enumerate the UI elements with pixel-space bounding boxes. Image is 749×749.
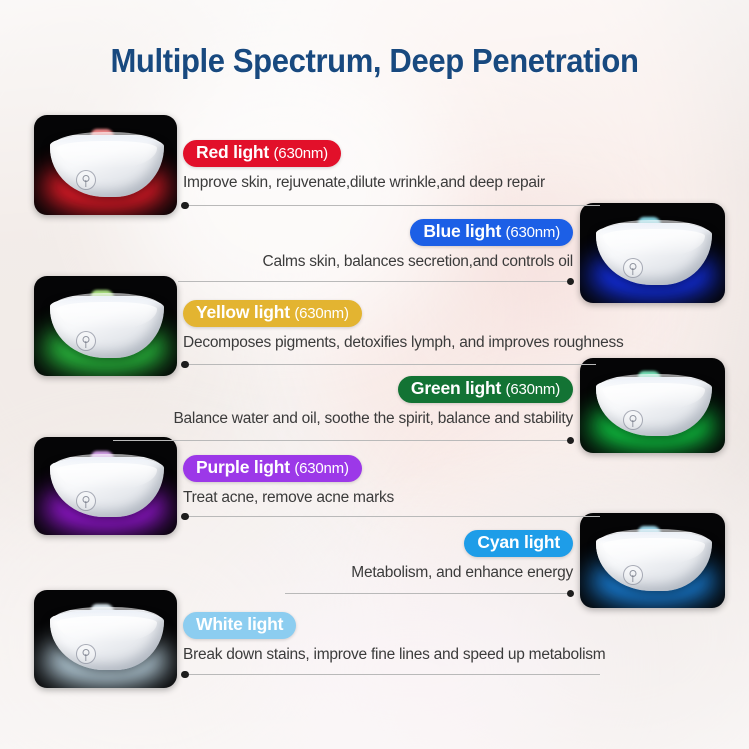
visor-rim: [598, 220, 709, 236]
connector-dot-blue: [567, 278, 575, 286]
product-image-white: [34, 590, 177, 688]
product-image-blue: [580, 203, 725, 303]
power-button-icon: [76, 644, 96, 664]
connector-line-yellow: [182, 364, 596, 365]
visor-rim: [52, 293, 162, 309]
light-description-yellow: Decomposes pigments, detoxifies lymph, a…: [183, 333, 624, 352]
spectrum-row-green: Green light (630nm)Balance water and oil…: [173, 376, 573, 428]
power-button-icon: [76, 170, 96, 190]
power-button-icon: [76, 491, 96, 511]
light-badge-yellow[interactable]: Yellow light (630nm): [183, 300, 362, 327]
connector-line-green: [113, 440, 573, 441]
light-description-white: Break down stains, improve fine lines an…: [183, 645, 605, 664]
connector-line-purple: [182, 516, 600, 517]
connector-line-cyan: [285, 593, 573, 594]
light-wavelength-red: (630nm): [274, 145, 328, 162]
infographic-page: Multiple Spectrum, Deep Penetration Red …: [0, 0, 749, 749]
visor-rim: [598, 529, 709, 544]
product-image-purple: [34, 437, 177, 535]
connector-line-blue: [178, 281, 573, 282]
light-name-green: Green light: [411, 378, 501, 398]
connector-dot-white: [181, 671, 189, 679]
visor-rim: [52, 607, 162, 623]
light-name-white: White light: [196, 614, 283, 634]
light-badge-red[interactable]: Red light (630nm): [183, 140, 341, 167]
product-image-green: [580, 358, 725, 453]
connector-dot-red: [181, 202, 189, 210]
light-wavelength-purple: (630nm): [294, 460, 348, 477]
connector-line-red: [182, 205, 600, 206]
product-image-red: [34, 115, 177, 215]
light-name-cyan: Cyan light: [477, 532, 560, 552]
connector-line-white: [182, 674, 600, 675]
light-name-blue: Blue light: [423, 221, 501, 241]
spectrum-row-blue: Blue light (630nm)Calms skin, balances s…: [263, 219, 573, 271]
connector-dot-yellow: [181, 361, 189, 369]
light-name-purple: Purple light: [196, 457, 290, 477]
light-badge-purple[interactable]: Purple light (630nm): [183, 455, 362, 482]
product-image-cyan: [580, 513, 725, 608]
visor-rim: [598, 374, 709, 389]
connector-dot-cyan: [567, 590, 575, 598]
light-description-red: Improve skin, rejuvenate,dilute wrinkle,…: [183, 173, 545, 192]
light-wavelength-blue: (630nm): [506, 224, 560, 241]
visor-rim: [52, 132, 162, 148]
light-wavelength-yellow: (630nm): [294, 305, 348, 322]
visor-rim: [52, 454, 162, 470]
connector-dot-purple: [181, 513, 189, 521]
light-badge-cyan[interactable]: Cyan light: [464, 530, 573, 557]
light-wavelength-green: (630nm): [506, 381, 560, 398]
light-description-cyan: Metabolism, and enhance energy: [351, 563, 573, 582]
light-badge-green[interactable]: Green light (630nm): [398, 376, 573, 403]
spectrum-row-cyan: Cyan lightMetabolism, and enhance energy: [351, 530, 573, 582]
power-button-icon: [76, 331, 96, 351]
spectrum-row-white: White lightBreak down stains, improve fi…: [183, 612, 605, 664]
connector-dot-green: [567, 437, 575, 445]
power-button-icon: [623, 410, 643, 430]
light-badge-white[interactable]: White light: [183, 612, 296, 639]
product-image-yellow: [34, 276, 177, 376]
spectrum-row-yellow: Yellow light (630nm)Decomposes pigments,…: [183, 300, 624, 352]
light-name-yellow: Yellow light: [196, 302, 290, 322]
page-title: Multiple Spectrum, Deep Penetration: [22, 42, 726, 80]
power-button-icon: [623, 258, 643, 278]
spectrum-row-red: Red light (630nm)Improve skin, rejuvenat…: [183, 140, 545, 192]
light-description-green: Balance water and oil, soothe the spirit…: [173, 409, 573, 428]
light-name-red: Red light: [196, 142, 269, 162]
light-description-blue: Calms skin, balances secretion,and contr…: [263, 252, 573, 271]
light-badge-blue[interactable]: Blue light (630nm): [410, 219, 573, 246]
light-description-purple: Treat acne, remove acne marks: [183, 488, 394, 507]
power-button-icon: [623, 565, 643, 585]
spectrum-row-purple: Purple light (630nm)Treat acne, remove a…: [183, 455, 394, 507]
